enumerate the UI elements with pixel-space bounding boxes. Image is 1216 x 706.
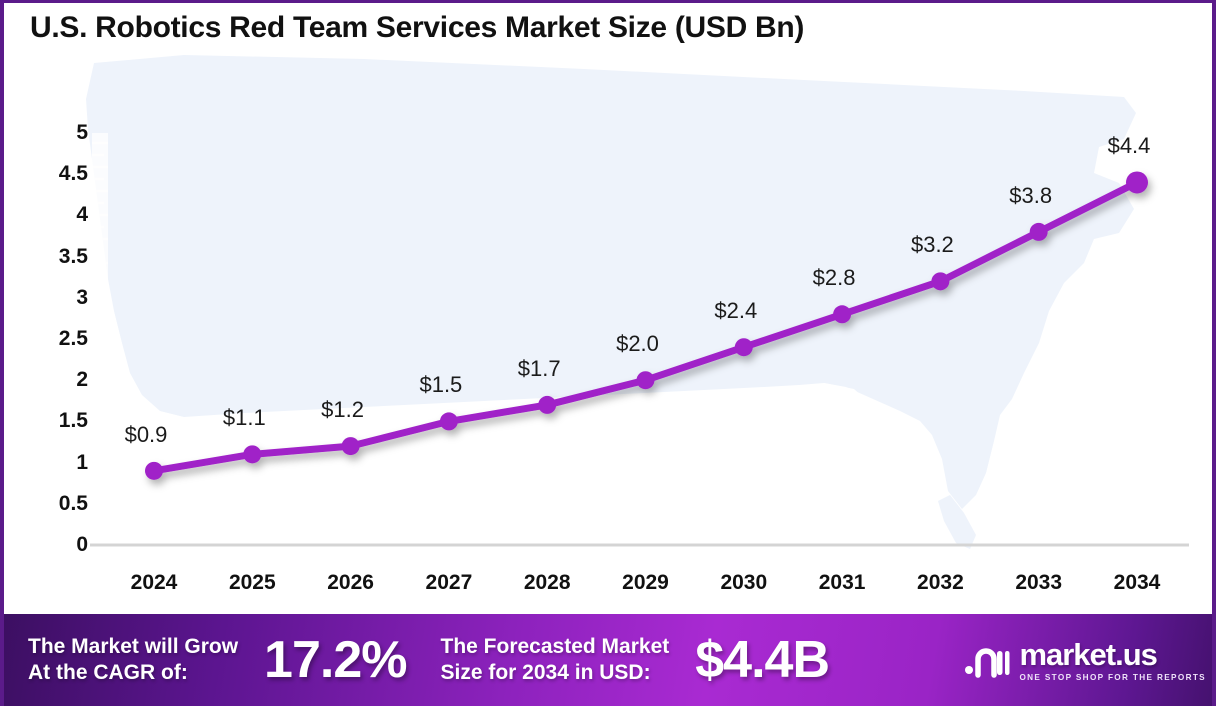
x-tick-label: 2031 (819, 571, 866, 595)
data-point-label: $2.0 (616, 331, 659, 357)
cagr-value: 17.2% (264, 630, 406, 690)
data-point-marker (243, 445, 261, 463)
cagr-caption: The Market will Grow At the CAGR of: (28, 634, 238, 685)
data-point-label: $2.4 (714, 298, 757, 324)
x-axis: 2024202520262027202820292030203120322033… (4, 563, 1212, 603)
data-point-label: $2.8 (813, 265, 856, 291)
data-point-label: $3.8 (1009, 183, 1052, 209)
x-tick-label: 2027 (426, 571, 473, 595)
data-point-marker (440, 412, 458, 430)
plot-layer: $0.9$1.1$1.2$1.5$1.7$2.0$2.4$2.8$3.2$3.8… (4, 3, 1212, 609)
data-point-label: $1.2 (321, 397, 364, 423)
data-point-marker (833, 305, 851, 323)
x-tick-label: 2034 (1114, 571, 1161, 595)
x-tick-label: 2030 (720, 571, 767, 595)
logo-name: market.us (1019, 639, 1206, 670)
data-point-marker (735, 338, 753, 356)
data-point-label: $0.9 (125, 422, 168, 448)
series-markers (145, 171, 1148, 479)
series-line (154, 182, 1137, 470)
logo-tagline: ONE STOP SHOP FOR THE REPORTS (1019, 673, 1206, 682)
data-point-label: $1.7 (518, 356, 561, 382)
x-tick-label: 2033 (1015, 571, 1062, 595)
x-tick-label: 2032 (917, 571, 964, 595)
forecast-caption: The Forecasted Market Size for 2034 in U… (441, 634, 670, 685)
data-point-label: $4.4 (1108, 133, 1151, 159)
data-point-marker (637, 371, 655, 389)
chart-area: 00.511.522.533.544.55 $0.9$1.1$1.2$1.5$1… (4, 3, 1212, 609)
data-point-marker (1126, 171, 1148, 193)
x-tick-label: 2029 (622, 571, 669, 595)
data-point-marker (1030, 223, 1048, 241)
market-us-logo: market.us ONE STOP SHOP FOR THE REPORTS (964, 639, 1206, 682)
data-point-marker (342, 437, 360, 455)
data-point-label: $3.2 (911, 232, 954, 258)
footer-banner: The Market will Grow At the CAGR of: 17.… (4, 614, 1216, 706)
data-point-marker (931, 272, 949, 290)
chart-infographic: U.S. Robotics Red Team Services Market S… (0, 0, 1216, 706)
x-tick-label: 2024 (131, 571, 178, 595)
data-point-marker (538, 396, 556, 414)
data-point-marker (145, 462, 163, 480)
data-point-label: $1.1 (223, 405, 266, 431)
data-point-label: $1.5 (419, 372, 462, 398)
x-tick-label: 2026 (327, 571, 374, 595)
forecast-value: $4.4B (695, 630, 829, 690)
x-tick-label: 2025 (229, 571, 276, 595)
x-tick-label: 2028 (524, 571, 571, 595)
market-us-logo-icon (964, 639, 1010, 681)
